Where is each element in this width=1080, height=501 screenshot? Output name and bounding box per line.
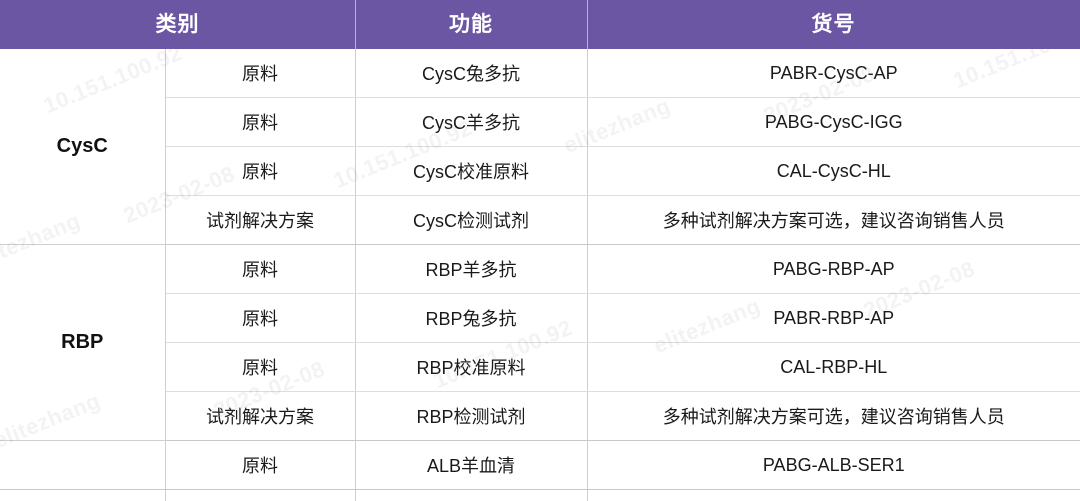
function-cell: CysC兔多抗 bbox=[355, 49, 587, 98]
type-cell: 原料 bbox=[165, 147, 355, 196]
column-header-category: 类别 bbox=[0, 0, 355, 49]
type-cell: 试剂解决方案 bbox=[165, 392, 355, 441]
table-row: 原料ALB羊血清PABG-ALB-SER1 bbox=[0, 441, 1080, 490]
part-number-cell: 多种试剂解决方案可选，建议咨询销售人员 bbox=[587, 196, 1080, 245]
category-cell: RBP bbox=[0, 245, 165, 441]
table-body: CysC原料CysC兔多抗PABR-CysC-AP原料CysC羊多抗PABG-C… bbox=[0, 49, 1080, 501]
column-header-part-number: 货号 bbox=[587, 0, 1080, 49]
type-cell bbox=[165, 490, 355, 501]
type-cell: 原料 bbox=[165, 441, 355, 490]
part-number-cell: PABG-RBP-AP bbox=[587, 245, 1080, 294]
part-number-cell: PABG-CysC-IGG bbox=[587, 98, 1080, 147]
function-cell: RBP检测试剂 bbox=[355, 392, 587, 441]
function-cell: RBP校准原料 bbox=[355, 343, 587, 392]
function-cell: RBP羊多抗 bbox=[355, 245, 587, 294]
part-number-cell: PABR-CysC-AP bbox=[587, 49, 1080, 98]
table-header: 类别 功能 货号 bbox=[0, 0, 1080, 49]
function-cell: RBP兔多抗 bbox=[355, 294, 587, 343]
function-cell: ALB羊血清 bbox=[355, 441, 587, 490]
table-row: RBP原料RBP羊多抗PABG-RBP-AP bbox=[0, 245, 1080, 294]
type-cell: 原料 bbox=[165, 343, 355, 392]
table-row: CysC原料CysC兔多抗PABR-CysC-AP bbox=[0, 49, 1080, 98]
header-row: 类别 功能 货号 bbox=[0, 0, 1080, 49]
part-number-cell: PABG-ALB-SER1 bbox=[587, 441, 1080, 490]
part-number-cell: CAL-RBP-HL bbox=[587, 343, 1080, 392]
type-cell: 原料 bbox=[165, 245, 355, 294]
type-cell: 原料 bbox=[165, 294, 355, 343]
part-number-cell bbox=[587, 490, 1080, 501]
column-header-function: 功能 bbox=[355, 0, 587, 49]
function-cell bbox=[355, 490, 587, 501]
function-cell: CysC羊多抗 bbox=[355, 98, 587, 147]
category-cell: CysC bbox=[0, 49, 165, 245]
function-cell: CysC检测试剂 bbox=[355, 196, 587, 245]
part-number-cell: CAL-CysC-HL bbox=[587, 147, 1080, 196]
category-cell bbox=[0, 490, 165, 501]
type-cell: 原料 bbox=[165, 49, 355, 98]
function-cell: CysC校准原料 bbox=[355, 147, 587, 196]
part-number-cell: PABR-RBP-AP bbox=[587, 294, 1080, 343]
type-cell: 试剂解决方案 bbox=[165, 196, 355, 245]
category-cell bbox=[0, 441, 165, 490]
type-cell: 原料 bbox=[165, 98, 355, 147]
product-catalog-table: 类别 功能 货号 CysC原料CysC兔多抗PABR-CysC-AP原料CysC… bbox=[0, 0, 1080, 501]
part-number-cell: 多种试剂解决方案可选，建议咨询销售人员 bbox=[587, 392, 1080, 441]
product-catalog-table-container: elitezhang2023-02-0810.151.100.92elitezh… bbox=[0, 0, 1080, 501]
table-row bbox=[0, 490, 1080, 501]
